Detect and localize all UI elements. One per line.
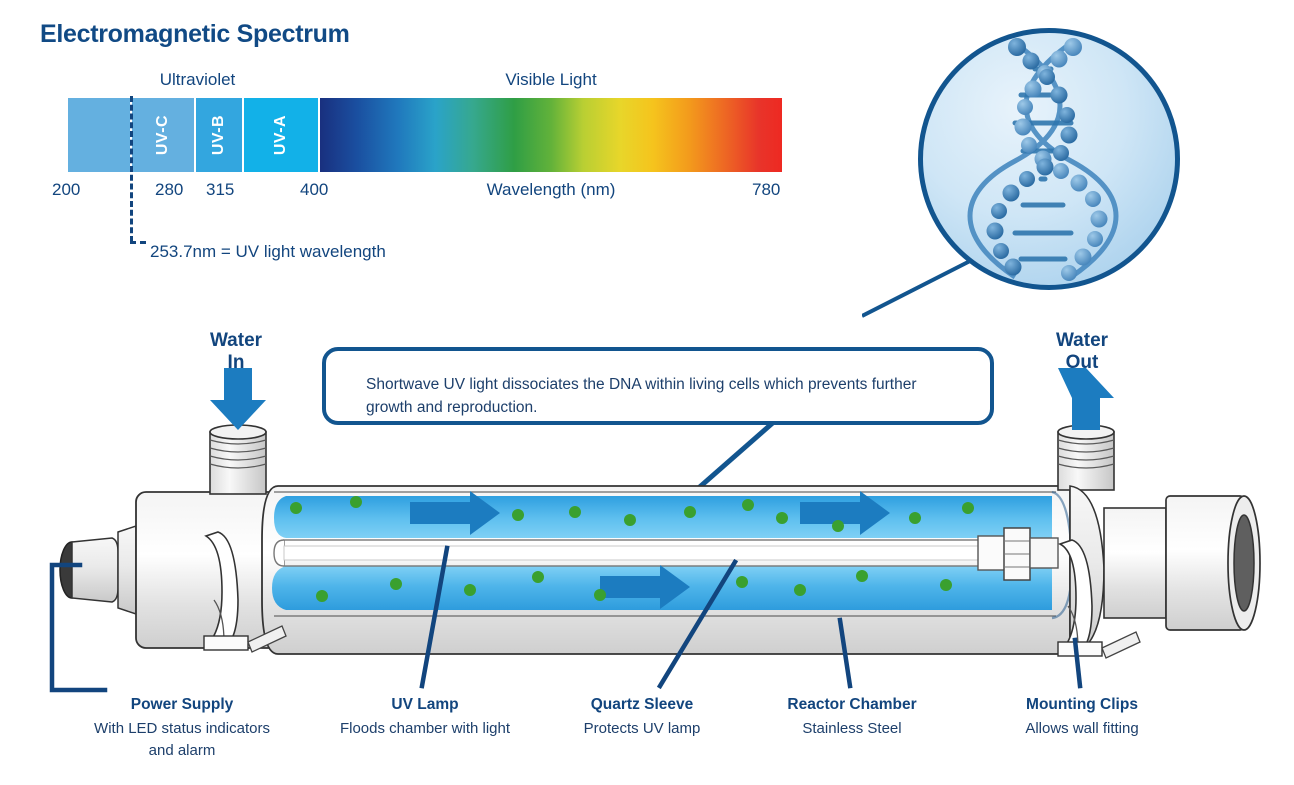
- power-supply-housing: [60, 492, 278, 648]
- caption-quartz-sleeve: Quartz Sleeve Protects UV lamp: [552, 694, 732, 740]
- uv-system-infographic: Electromagnetic Spectrum Ultraviolet Vis…: [0, 0, 1294, 785]
- uvc-marker-line: [130, 96, 133, 242]
- dna-magnifier: [918, 28, 1180, 290]
- uvc-wavelength-note: 253.7nm = UV light wavelength: [150, 242, 386, 262]
- band-uv-plain: [68, 98, 130, 172]
- caption-power-supply-desc: With LED status indicators and alarm: [94, 720, 270, 759]
- caption-power-supply: Power Supply With LED status indicators …: [92, 694, 272, 762]
- band-visible-light: [320, 98, 782, 172]
- caption-reactor-chamber-title: Reactor Chamber: [762, 694, 942, 716]
- water-top-band: [274, 496, 1052, 538]
- water-out-arrow: [1058, 368, 1114, 430]
- right-end-cap: [1070, 486, 1260, 654]
- caption-quartz-sleeve-title: Quartz Sleeve: [552, 694, 732, 716]
- caption-uv-lamp-desc: Floods chamber with light: [340, 720, 510, 737]
- caption-uv-lamp: UV Lamp Floods chamber with light: [330, 694, 520, 740]
- dna-circle: [918, 28, 1180, 290]
- spectrum-bar: UV-C UV-B UV-A: [68, 98, 782, 172]
- water-outlet-port: [1058, 425, 1114, 490]
- caption-reactor-chamber: Reactor Chamber Stainless Steel: [762, 694, 942, 740]
- tick-280: 280: [155, 180, 183, 200]
- band-uv-b: UV-B: [196, 98, 242, 172]
- visible-light-heading: Visible Light: [320, 70, 782, 90]
- uvc-marker-foot: [130, 241, 146, 244]
- caption-mounting-clips: Mounting Clips Allows wall fitting: [992, 694, 1172, 740]
- caption-reactor-chamber-desc: Stainless Steel: [802, 720, 901, 737]
- caption-power-supply-title: Power Supply: [92, 694, 272, 716]
- band-uv-a-label: UV-A: [272, 115, 290, 155]
- caption-mounting-clips-desc: Allows wall fitting: [1025, 720, 1138, 737]
- reactor-chamber: [262, 486, 1072, 654]
- uv-reactor-drawing: [0, 300, 1294, 700]
- water-flow-arrows: [210, 368, 1114, 430]
- page-title: Electromagnetic Spectrum: [40, 20, 350, 49]
- caption-quartz-sleeve-desc: Protects UV lamp: [584, 720, 701, 737]
- caption-mounting-clips-title: Mounting Clips: [992, 694, 1172, 716]
- band-uv-c: UV-C: [132, 98, 194, 172]
- ultraviolet-heading: Ultraviolet: [70, 70, 325, 90]
- water-in-arrow: [210, 368, 266, 430]
- band-uv-b-label: UV-B: [210, 115, 228, 155]
- tick-315: 315: [206, 180, 234, 200]
- wavelength-axis-label: Wavelength (nm): [320, 180, 782, 200]
- band-uv-c-label: UV-C: [154, 115, 172, 155]
- band-uv-a: UV-A: [244, 98, 318, 172]
- tick-200: 200: [52, 180, 80, 200]
- caption-uv-lamp-title: UV Lamp: [330, 694, 520, 716]
- dna-helix-icon: [923, 33, 1175, 285]
- water-inlet-port: [210, 425, 266, 494]
